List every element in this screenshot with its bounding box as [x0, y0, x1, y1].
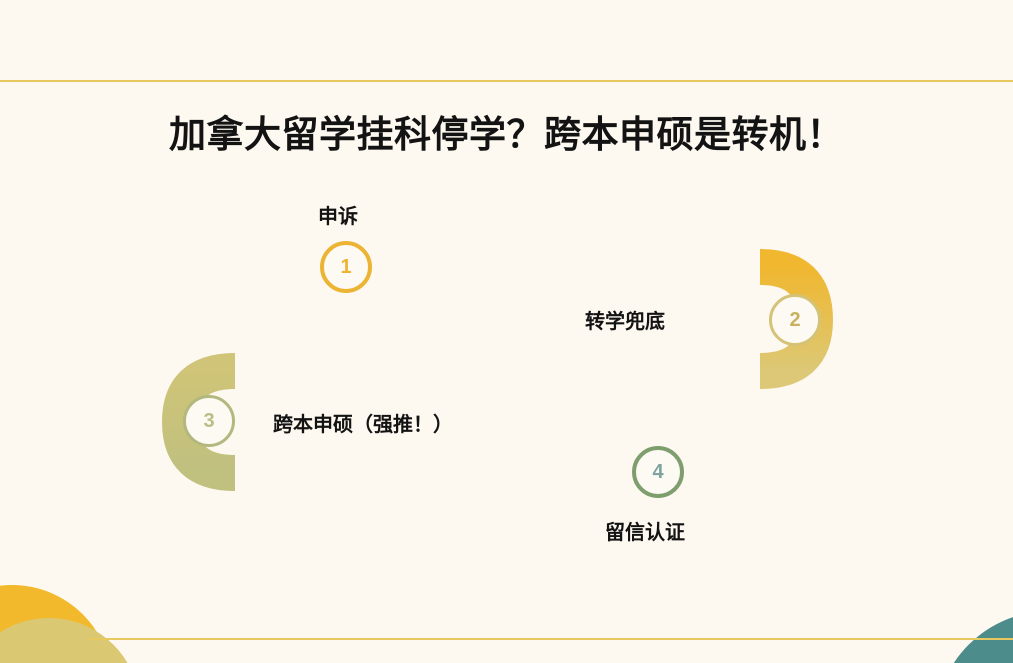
slide-canvas: 加拿大留学挂科停学？跨本申硕是转机！	[0, 0, 1013, 663]
step-label-4: 留信认证	[605, 516, 685, 545]
step-node-3[interactable]: 3	[183, 395, 235, 447]
step-node-1[interactable]: 1	[320, 241, 372, 293]
top-divider-rule	[0, 80, 1013, 82]
step-node-4[interactable]: 4	[632, 446, 684, 498]
step-label-1: 申诉	[318, 200, 358, 229]
step-number-2: 2	[789, 310, 800, 330]
step-number-4: 4	[652, 462, 663, 482]
step-number-1: 1	[340, 257, 351, 277]
flow-ribbon	[0, 180, 1013, 540]
step-node-2[interactable]: 2	[769, 294, 821, 346]
khaki-circle-decoration	[0, 618, 140, 663]
teal-circle-decoration	[935, 611, 1013, 663]
step-label-3: 跨本申硕（强推！）	[273, 408, 453, 437]
step-number-3: 3	[203, 411, 214, 431]
step-label-2: 转学兜底	[585, 305, 665, 334]
slide-title: 加拿大留学挂科停学？跨本申硕是转机！	[0, 104, 1013, 158]
bottom-divider-rule	[88, 638, 1013, 640]
